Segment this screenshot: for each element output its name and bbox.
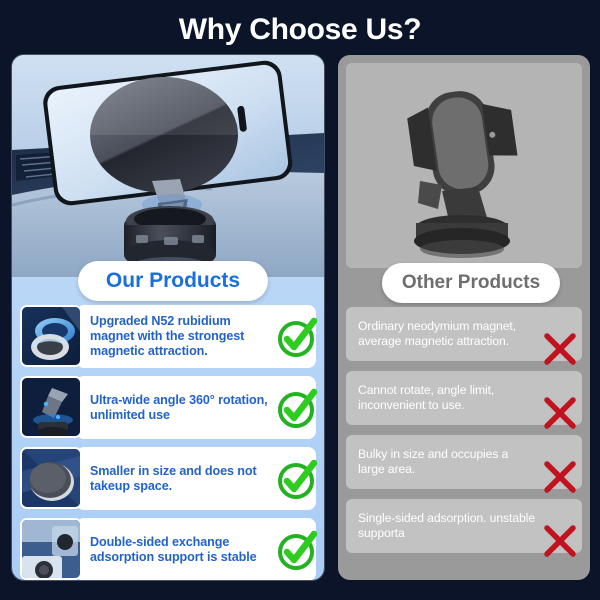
check-icon	[274, 313, 322, 361]
check-icon	[274, 455, 322, 503]
other-feature-text: Bulky in size and occupies a large area.	[358, 447, 538, 477]
our-feature-card: Smaller in size and does not takeup spac…	[76, 447, 316, 510]
cross-icon	[540, 521, 580, 561]
our-products-panel: Our Products	[12, 55, 324, 580]
cross-icon	[540, 393, 580, 433]
other-feature-row[interactable]: Cannot rotate, angle limit, inconvenient…	[346, 371, 582, 425]
page-title: Why Choose Us?	[0, 0, 600, 52]
our-feature-text: Smaller in size and does not takeup spac…	[90, 464, 270, 494]
glowing-magnet-ring-thumbnail	[20, 305, 82, 367]
other-feature-row[interactable]: Ordinary neodymium magnet, average magne…	[346, 307, 582, 361]
our-feature-text: Double-sided exchange adsorption support…	[90, 535, 270, 565]
our-feature-row[interactable]: Upgraded N52 rubidium magnet with the st…	[20, 305, 316, 368]
other-feature-text: Single-sided adsorption. unstable suppor…	[358, 511, 538, 541]
check-icon	[274, 526, 322, 574]
our-feature-row[interactable]: Double-sided exchange adsorption support…	[20, 518, 316, 580]
our-hero-image	[12, 55, 324, 277]
our-feature-text: Ultra-wide angle 360° rotation, unlimite…	[90, 393, 270, 423]
our-feature-list: Upgraded N52 rubidium magnet with the st…	[20, 305, 316, 580]
our-products-pill: Our Products	[78, 261, 268, 301]
compact-round-magnet-thumbnail	[20, 447, 82, 509]
our-feature-card: Double-sided exchange adsorption support…	[76, 518, 316, 580]
other-hero-image	[346, 63, 582, 268]
comparison-columns: Our Products	[0, 55, 600, 585]
cross-icon	[540, 457, 580, 497]
other-feature-text: Cannot rotate, angle limit, inconvenient…	[358, 383, 538, 413]
our-feature-row[interactable]: Smaller in size and does not takeup spac…	[20, 447, 316, 510]
other-feature-row[interactable]: Bulky in size and occupies a large area.	[346, 435, 582, 489]
our-feature-text: Upgraded N52 rubidium magnet with the st…	[90, 314, 270, 359]
other-products-panel: Other Products Ordinary neodymium magnet…	[338, 55, 590, 580]
other-products-pill: Other Products	[382, 263, 560, 303]
double-sided-mount-thumbnail	[20, 518, 82, 580]
other-feature-list: Ordinary neodymium magnet, average magne…	[346, 307, 582, 563]
cross-icon	[540, 329, 580, 369]
other-feature-text: Ordinary neodymium magnet, average magne…	[358, 319, 538, 349]
rotating-arm-diagram-thumbnail	[20, 376, 82, 438]
check-icon	[274, 384, 322, 432]
our-feature-row[interactable]: Ultra-wide angle 360° rotation, unlimite…	[20, 376, 316, 439]
other-feature-row[interactable]: Single-sided adsorption. unstable suppor…	[346, 499, 582, 553]
our-feature-card: Ultra-wide angle 360° rotation, unlimite…	[76, 376, 316, 439]
our-feature-card: Upgraded N52 rubidium magnet with the st…	[76, 305, 316, 368]
